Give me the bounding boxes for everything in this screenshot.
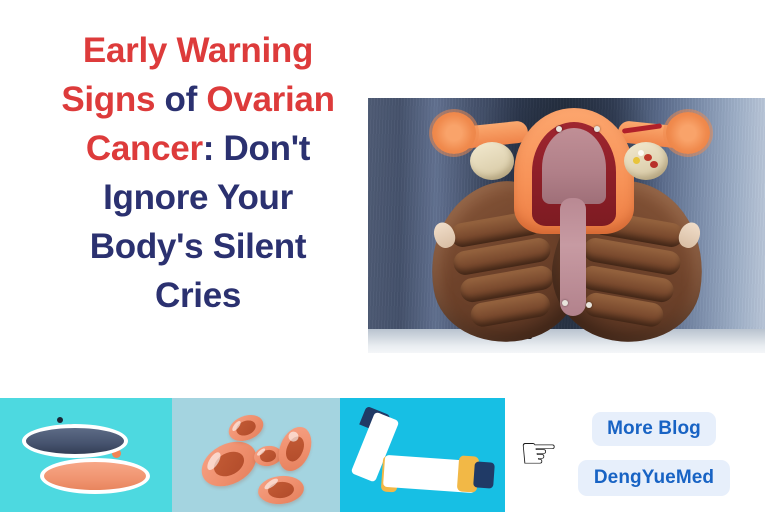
petri-dish-base — [40, 458, 150, 494]
headline-seg: Cancer — [86, 129, 203, 168]
ovary-right-cutaway — [624, 142, 668, 180]
photo-floor — [368, 329, 765, 353]
page-title: Early Warning Signs of Ovarian Cancer: D… — [18, 26, 378, 320]
red-blood-cell — [272, 422, 317, 476]
petri-dish-lid — [22, 424, 128, 458]
headline-seg: Ovarian — [206, 80, 334, 119]
fimbria-left — [432, 112, 476, 154]
red-blood-cell — [257, 474, 306, 507]
ovary-left — [470, 142, 514, 180]
headline-line-1: Early Warning — [18, 26, 378, 75]
headline-seg: Ignore Your — [103, 178, 293, 217]
inhaler-illustration — [340, 398, 505, 512]
headline-line-3: Cancer: Don't — [18, 124, 378, 173]
promo-banner: Early Warning Signs of Ovarian Cancer: D… — [0, 0, 768, 512]
headline-line-5: Body's Silent — [18, 222, 378, 271]
inhaler-mouthpiece — [473, 461, 495, 488]
endometrial-cavity — [542, 128, 606, 204]
red-blood-cells-illustration — [172, 398, 340, 512]
headline-line-4: Ignore Your — [18, 173, 378, 222]
petri-dish-illustration — [0, 398, 172, 512]
cervical-canal — [560, 198, 586, 316]
more-blog-button[interactable]: More Blog — [592, 412, 716, 446]
headline-seg: Early Warning — [83, 31, 313, 70]
headline-seg: Signs — [61, 80, 164, 119]
headline-line-6: Cries — [18, 271, 378, 320]
red-blood-cell — [194, 433, 264, 496]
headline-seg: Body's Silent — [90, 227, 306, 266]
headline-seg: Cries — [155, 276, 241, 315]
red-blood-cell — [225, 410, 267, 446]
uterus-model — [476, 102, 672, 328]
fimbria-right — [666, 112, 710, 154]
headline-seg: : Don't — [203, 129, 310, 168]
uterus-anatomy-model-photo — [368, 98, 765, 353]
headline-seg: of — [165, 80, 207, 119]
dengyuemed-button[interactable]: DengYueMed — [578, 460, 730, 496]
pointing-hand-right-icon: ☞ — [519, 432, 558, 476]
headline-line-2: Signs of Ovarian — [18, 75, 378, 124]
